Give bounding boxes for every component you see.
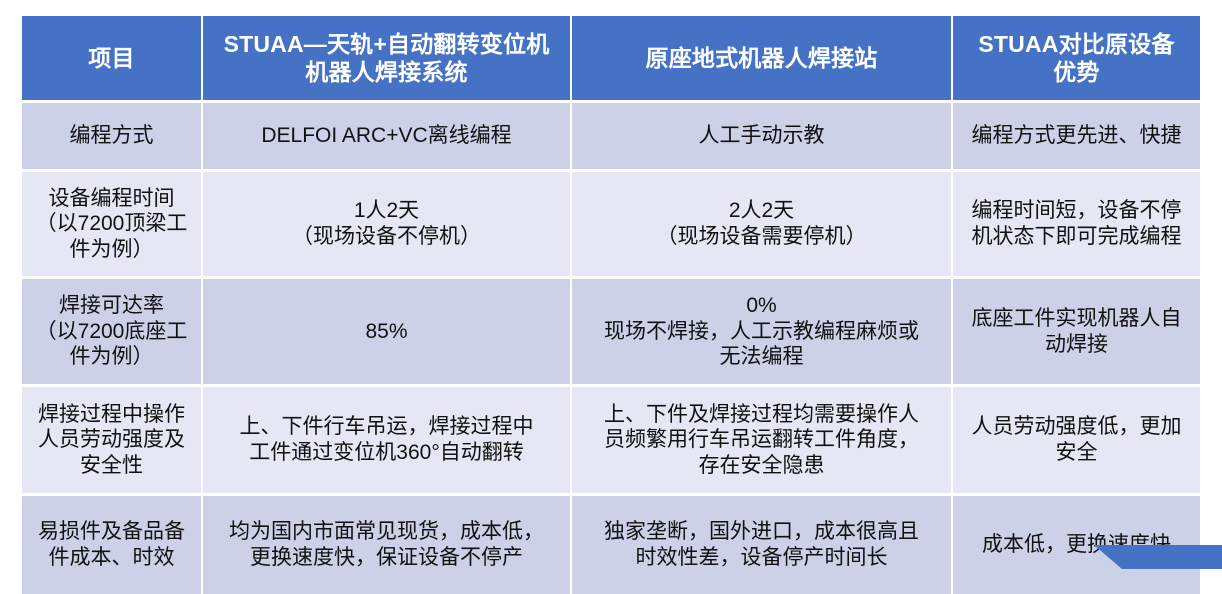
cell-line: 安全性	[28, 453, 195, 479]
column-header-item: 项目	[22, 16, 203, 103]
cell-line: 人员劳动强度及	[28, 427, 195, 453]
cell-item: 易损件及备品备 件成本、时效	[22, 496, 203, 594]
cell-line: （以7200顶梁工	[28, 211, 195, 237]
cell-item: 焊接过程中操作 人员劳动强度及 安全性	[22, 387, 203, 496]
cell-line: 更换速度快，保证设备不停产	[209, 545, 564, 571]
cell-line: （现场设备需要停机）	[578, 224, 945, 250]
cell-line: （以7200底座工	[28, 319, 195, 345]
cell-line: 均为国内市面常见现货，成本低，	[209, 519, 564, 545]
cell-line: 0%	[578, 293, 945, 319]
cell-line: 独家垄断，国外进口，成本很高且	[578, 519, 945, 545]
column-header-advantage: STUAA对比原设备 优势	[953, 16, 1200, 103]
table-row: 设备编程时间 （以7200顶梁工 件为例） 1人2天 （现场设备不停机） 2人2…	[22, 172, 1200, 279]
cell-line: （现场设备不停机）	[209, 224, 564, 250]
cell-line: 2人2天	[578, 198, 945, 224]
comparison-table: 项目 STUAA—天轨+自动翻转变位机 机器人焊接系统 原座地式机器人焊接站 S…	[22, 16, 1200, 594]
cell-line: 机状态下即可完成编程	[959, 224, 1194, 250]
cell-line: 员频繁用行车吊运翻转工件角度，	[578, 427, 945, 453]
cell-line: 现场不焊接，人工示教编程麻烦或	[578, 319, 945, 345]
column-header-original-station: 原座地式机器人焊接站	[572, 16, 953, 103]
slide-canvas: 项目 STUAA—天轨+自动翻转变位机 机器人焊接系统 原座地式机器人焊接站 S…	[0, 0, 1222, 569]
cell-stuaa: 85%	[203, 279, 572, 387]
cell-line: 1人2天	[209, 198, 564, 224]
cell-line: 编程方式更先进、快捷	[959, 123, 1194, 149]
cell-line: 上、下件行车吊运，焊接过程中	[209, 414, 564, 440]
cell-stuaa: 上、下件行车吊运，焊接过程中 工件通过变位机360°自动翻转	[203, 387, 572, 496]
column-header-stuaa-system: STUAA—天轨+自动翻转变位机 机器人焊接系统	[203, 16, 572, 103]
table-row: 焊接可达率 （以7200底座工 件为例） 85% 0% 现场不焊接，人工示教编程…	[22, 279, 1200, 387]
table-row: 焊接过程中操作 人员劳动强度及 安全性 上、下件行车吊运，焊接过程中 工件通过变…	[22, 387, 1200, 496]
header-line: STUAA对比原设备	[959, 30, 1194, 58]
cell-line: 件为例）	[28, 237, 195, 263]
cell-line: 焊接过程中操作	[28, 402, 195, 428]
cell-line: 工件通过变位机360°自动翻转	[209, 440, 564, 466]
header-line: 原座地式机器人焊接站	[578, 44, 945, 72]
header-line: 项目	[28, 44, 195, 72]
cell-line: 编程方式	[28, 123, 195, 149]
cell-original: 上、下件及焊接过程均需要操作人 员频繁用行车吊运翻转工件角度， 存在安全隐患	[572, 387, 953, 496]
cell-original: 独家垄断，国外进口，成本很高且 时效性差，设备停产时间长	[572, 496, 953, 594]
cell-line: 85%	[209, 319, 564, 345]
cell-advantage: 底座工件实现机器人自 动焊接	[953, 279, 1200, 387]
cell-line: 人员劳动强度低，更加	[959, 414, 1194, 440]
table-row: 易损件及备品备 件成本、时效 均为国内市面常见现货，成本低， 更换速度快，保证设…	[22, 496, 1200, 594]
cell-line: 易损件及备品备	[28, 519, 195, 545]
cell-line: 安全	[959, 440, 1194, 466]
cell-item: 编程方式	[22, 103, 203, 172]
cell-original: 2人2天 （现场设备需要停机）	[572, 172, 953, 279]
cell-stuaa: 均为国内市面常见现货，成本低， 更换速度快，保证设备不停产	[203, 496, 572, 594]
cell-line: 动焊接	[959, 332, 1194, 358]
cell-original: 0% 现场不焊接，人工示教编程麻烦或 无法编程	[572, 279, 953, 387]
cell-line: 件为例）	[28, 344, 195, 370]
header-row: 项目 STUAA—天轨+自动翻转变位机 机器人焊接系统 原座地式机器人焊接站 S…	[22, 16, 1200, 103]
table-header: 项目 STUAA—天轨+自动翻转变位机 机器人焊接系统 原座地式机器人焊接站 S…	[22, 16, 1200, 103]
cell-item: 焊接可达率 （以7200底座工 件为例）	[22, 279, 203, 387]
header-line: 优势	[959, 58, 1194, 86]
cell-line: 存在安全隐患	[578, 453, 945, 479]
cell-stuaa: DELFOI ARC+VC离线编程	[203, 103, 572, 172]
cell-line: 编程时间短，设备不停	[959, 198, 1194, 224]
cell-item: 设备编程时间 （以7200顶梁工 件为例）	[22, 172, 203, 279]
header-line: 机器人焊接系统	[209, 58, 564, 86]
table-body: 编程方式 DELFOI ARC+VC离线编程 人工手动示教 编程方式更先进、快捷…	[22, 103, 1200, 594]
cell-line: 焊接可达率	[28, 293, 195, 319]
cell-line: 件成本、时效	[28, 545, 195, 571]
table-row: 编程方式 DELFOI ARC+VC离线编程 人工手动示教 编程方式更先进、快捷	[22, 103, 1200, 172]
cell-advantage: 编程方式更先进、快捷	[953, 103, 1200, 172]
cell-advantage: 编程时间短，设备不停 机状态下即可完成编程	[953, 172, 1200, 279]
header-line: STUAA—天轨+自动翻转变位机	[209, 30, 564, 58]
cell-line: 设备编程时间	[28, 186, 195, 212]
cell-line: 时效性差，设备停产时间长	[578, 545, 945, 571]
cell-advantage: 人员劳动强度低，更加 安全	[953, 387, 1200, 496]
cell-original: 人工手动示教	[572, 103, 953, 172]
cell-line: 上、下件及焊接过程均需要操作人	[578, 402, 945, 428]
cell-line: 底座工件实现机器人自	[959, 306, 1194, 332]
cell-stuaa: 1人2天 （现场设备不停机）	[203, 172, 572, 279]
cell-line: DELFOI ARC+VC离线编程	[209, 123, 564, 149]
cell-line: 人工手动示教	[578, 123, 945, 149]
cell-line: 无法编程	[578, 344, 945, 370]
